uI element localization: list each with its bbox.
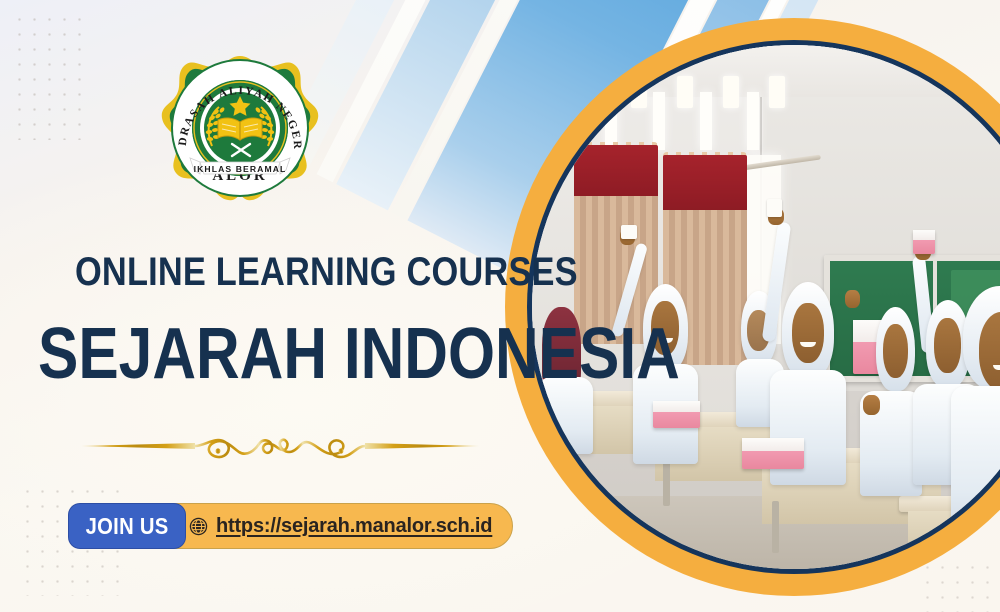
photo-inner-ring xyxy=(527,40,1000,574)
pink-box-on-desk-3 xyxy=(977,511,1000,542)
dot-grid-top-left xyxy=(12,12,92,140)
pink-box-on-desk-2 xyxy=(742,438,805,469)
pink-box-on-desk-1 xyxy=(653,401,700,427)
classroom-photo xyxy=(532,45,1000,569)
window-slit-3 xyxy=(700,92,712,150)
poster-canvas: MADRASAH ALIYAH NEGERI 1 ALOR xyxy=(0,0,1000,612)
window-slit-4 xyxy=(747,92,759,150)
page-title: SEJARAH INDONESIA xyxy=(38,318,680,390)
school-logo: MADRASAH ALIYAH NEGERI 1 ALOR xyxy=(156,52,324,224)
photo-outer-ring xyxy=(505,18,1000,596)
gold-flourish-divider xyxy=(75,424,485,468)
website-url-text: https://sejarah.manalor.sch.id xyxy=(216,515,492,538)
student-foreground-right xyxy=(951,276,1000,538)
eyebrow-heading: ONLINE LEARNING COURSES xyxy=(75,252,578,292)
svg-text:IKHLAS BERAMAL: IKHLAS BERAMAL xyxy=(194,164,287,174)
join-us-button[interactable]: JOIN US xyxy=(68,503,186,549)
globe-icon xyxy=(189,517,208,536)
join-us-label: JOIN US xyxy=(86,513,169,540)
classroom-scene xyxy=(532,45,1000,569)
